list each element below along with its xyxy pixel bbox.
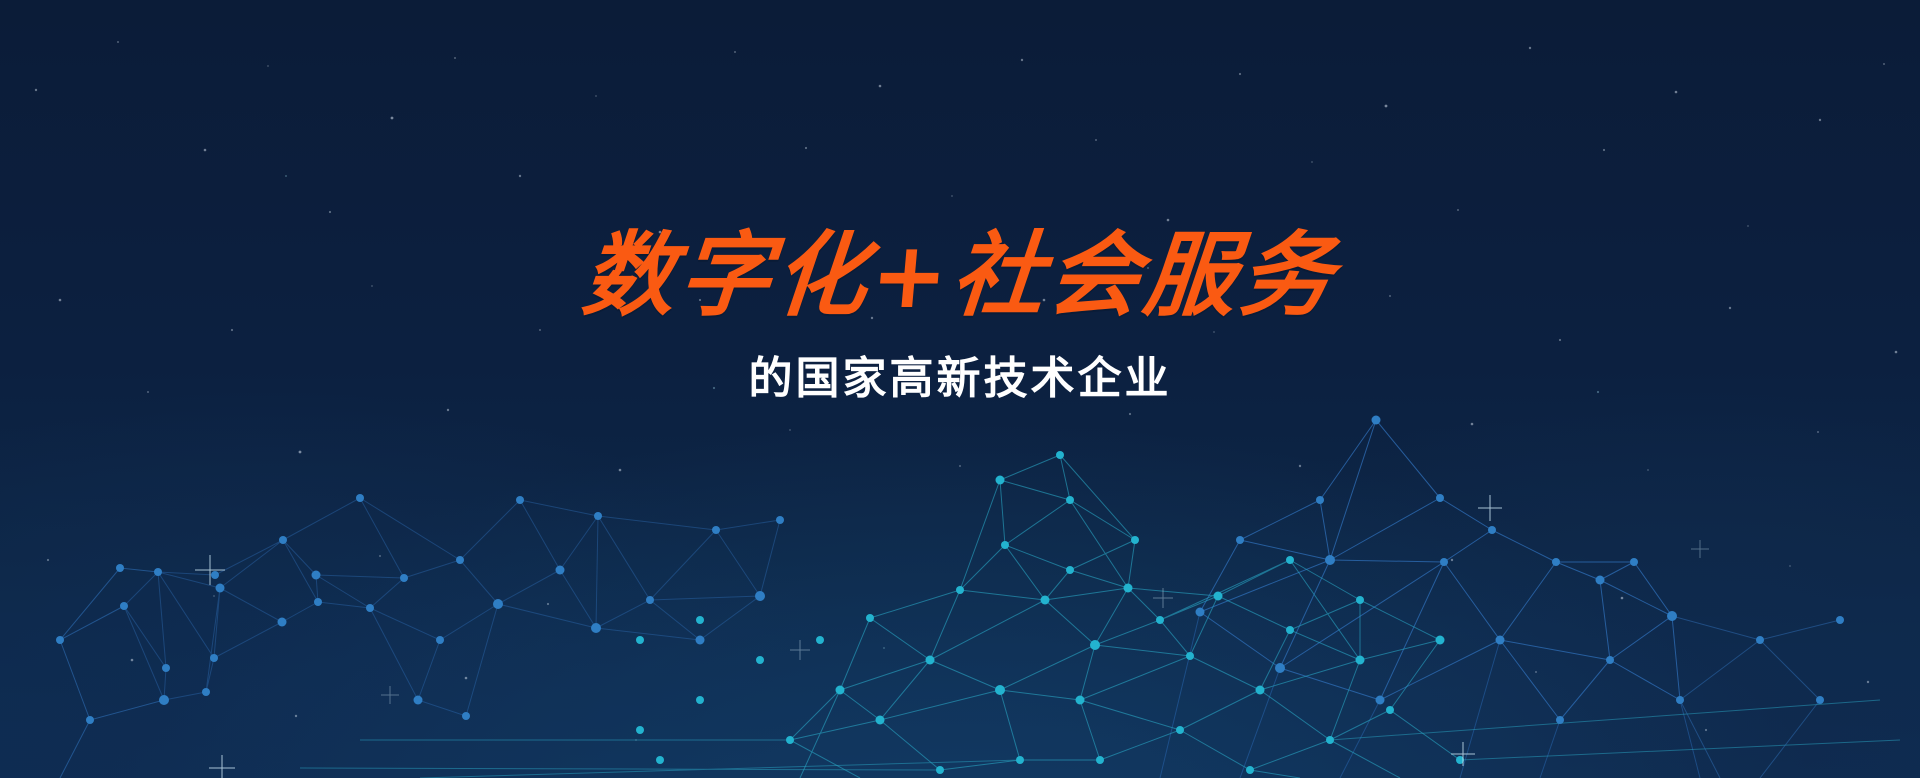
mesh-nodes-cyan bbox=[636, 451, 1464, 774]
mesh-edges-left-lower bbox=[124, 498, 780, 716]
mesh-edges-center-tail bbox=[790, 455, 1460, 778]
mesh-edges-right-lower bbox=[1160, 612, 1700, 778]
mesh-edges-far-right bbox=[1672, 616, 1840, 778]
hero-banner: 数字化+社会服务 的国家高新技术企业 bbox=[0, 0, 1920, 778]
mesh-nodes-blue bbox=[56, 416, 1844, 725]
banner-copy: 数字化+社会服务 的国家高新技术企业 bbox=[0, 228, 1920, 406]
mesh-edges-far-left bbox=[60, 568, 164, 778]
mesh-edges-left bbox=[124, 498, 780, 716]
page-subtitle: 的国家高新技术企业 bbox=[0, 342, 1920, 406]
page-title: 数字化+社会服务 bbox=[579, 228, 1340, 324]
mesh-edges-center-cyan bbox=[790, 455, 1460, 778]
mesh-edges-right bbox=[1200, 420, 1680, 720]
mesh-edges-long-horizontal bbox=[300, 700, 1900, 778]
